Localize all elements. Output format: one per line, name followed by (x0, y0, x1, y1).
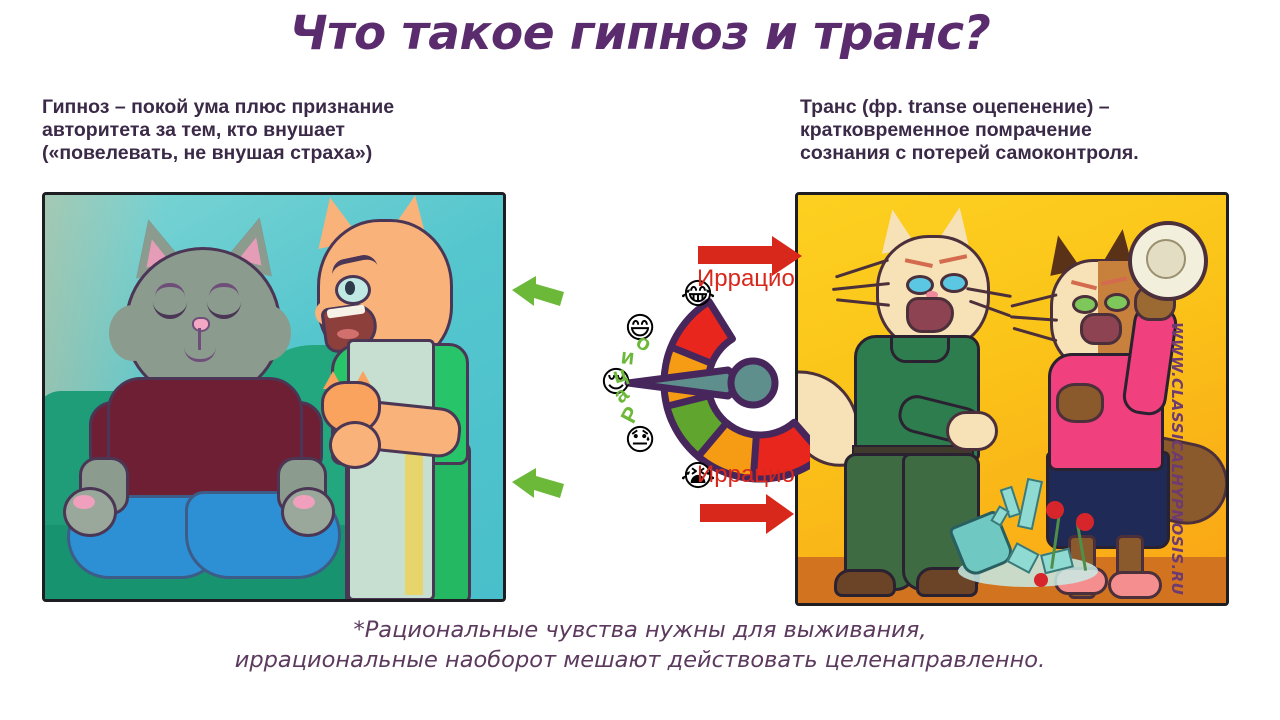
pink-cat-eye-left (1072, 295, 1098, 314)
trance-definition-text: Транс (фр. transe оцепенение) – кратковр… (800, 96, 1240, 165)
ratio-label: Р а ц и о (593, 338, 673, 428)
gauge-emoji-sad: 😓 (620, 426, 660, 456)
thrown-plate-inner (1146, 239, 1186, 279)
orange-cat-pupil (345, 281, 355, 295)
arrow-right-bottom (700, 494, 794, 534)
grey-cat-cheek-right (243, 305, 291, 361)
pink-cat-eye-right (1104, 293, 1130, 312)
footnote-caption: *Рациональные чувства нужны для выживани… (0, 616, 1280, 675)
arrow-left-bottom (512, 468, 564, 498)
pink-cat-gesturing-paw (1056, 383, 1104, 423)
hypnosis-definition-text: Гипноз – покой ума плюс признание автори… (42, 96, 512, 165)
trance-illustration-panel (795, 192, 1229, 606)
arrow-left-top (512, 276, 564, 306)
page-title: Что такое гипноз и транс? (0, 6, 1280, 61)
pink-cat-slipper-right (1108, 571, 1162, 599)
green-cat-paw (946, 411, 998, 451)
rational-arrows (512, 276, 564, 498)
grey-cat-paw-pad-right (293, 495, 315, 509)
orange-cat-apron-stripe (405, 435, 423, 595)
orange-cat-tongue (337, 329, 359, 339)
slide-root: Что такое гипноз и транс? Гипноз – покой… (0, 0, 1280, 720)
grey-cat-paw-pad-left (73, 495, 95, 509)
site-watermark: WWW.CLASSICALHYPNOSIS.RU (1168, 322, 1186, 602)
hypnosis-illustration-panel (42, 192, 506, 602)
grey-cat-paw-left (63, 487, 117, 537)
irrational-label-top: Иррацио (697, 265, 795, 293)
grey-cat-nose (192, 317, 210, 332)
pink-cat-shouting-mouth (1080, 313, 1122, 345)
flower-head-2 (1076, 513, 1094, 531)
flower-head-3 (1034, 573, 1048, 587)
orange-cat-paw (329, 421, 381, 469)
green-cat-shouting-mouth (906, 297, 954, 333)
grey-cat-cheek-left (109, 305, 157, 361)
flower-head-1 (1046, 501, 1064, 519)
green-cat-collar (890, 335, 950, 363)
green-cat-eye-right (940, 273, 968, 293)
irrational-label-bottom: Иррацио (697, 461, 795, 489)
green-cat-shoe-left (834, 569, 896, 597)
